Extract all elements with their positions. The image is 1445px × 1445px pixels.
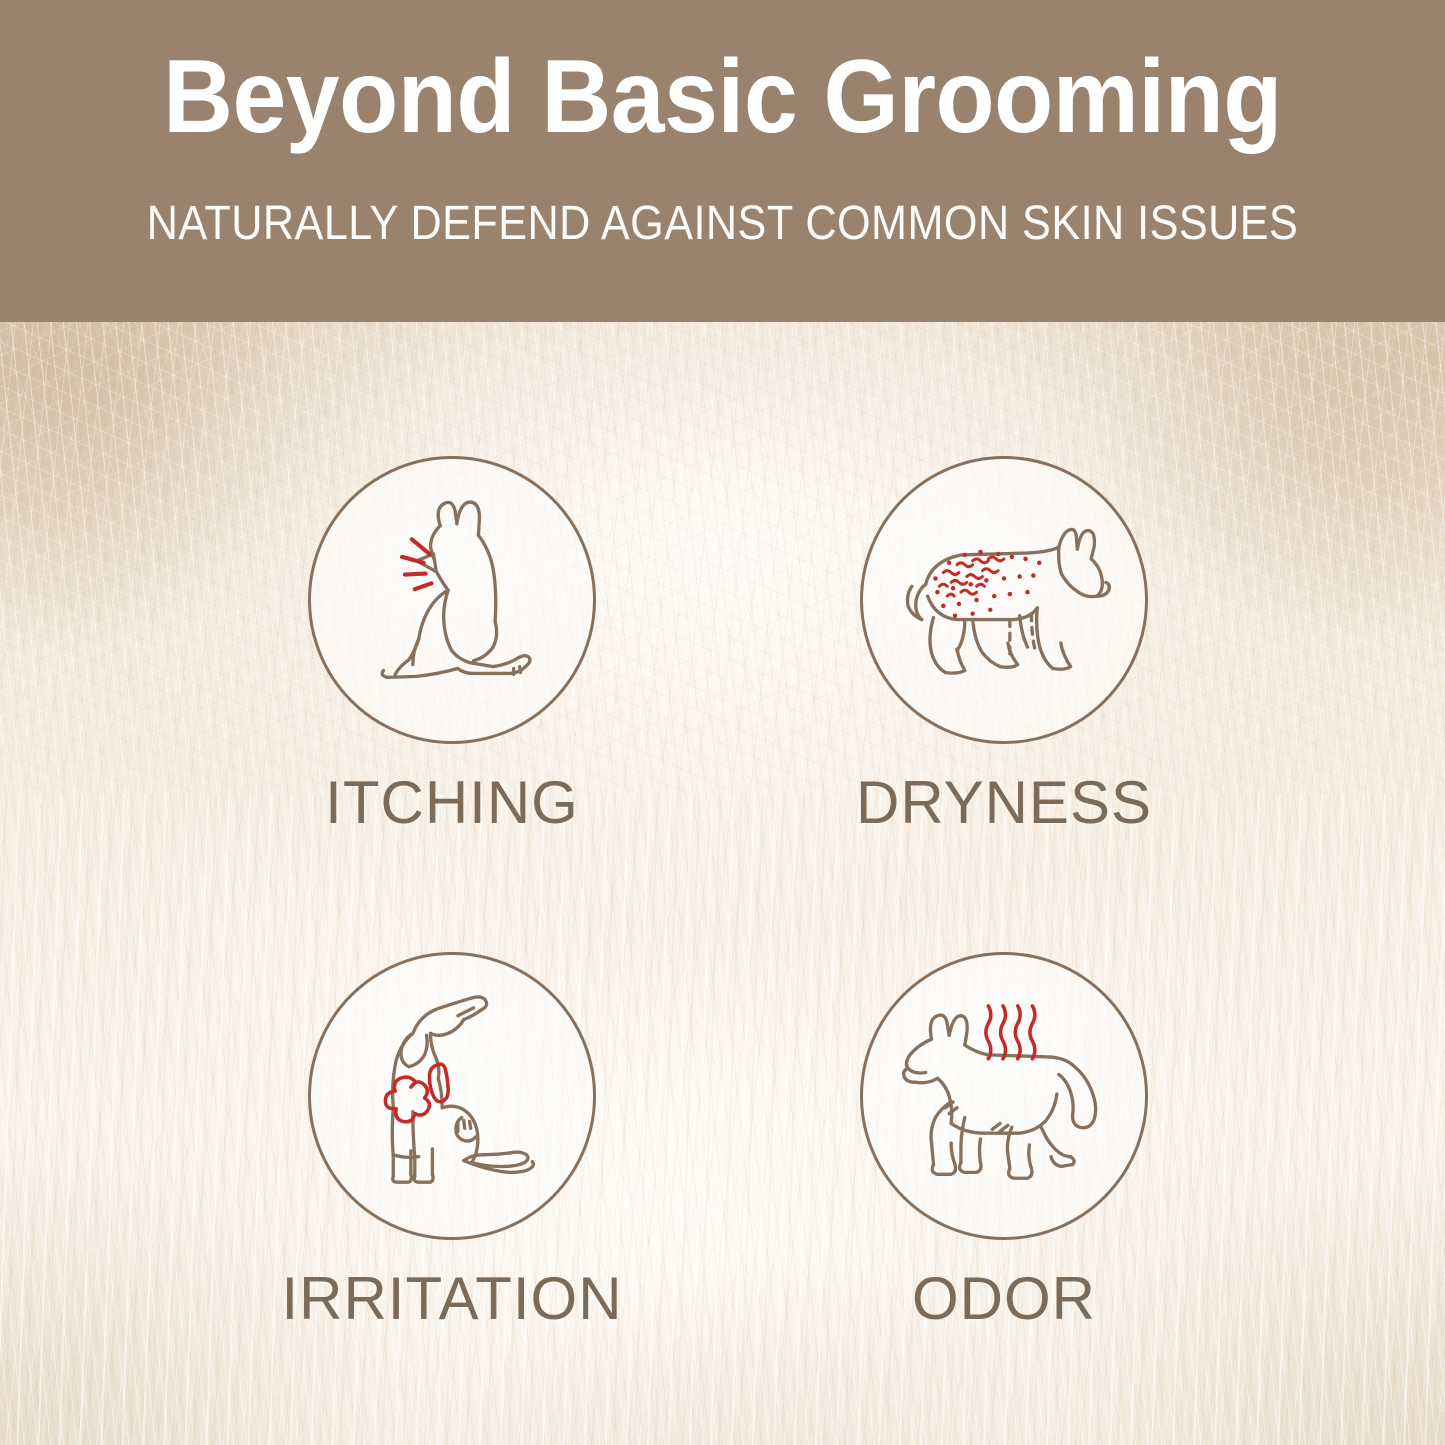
feature-item-itching[interactable]: ITCHING (237, 456, 667, 837)
feature-item-dryness[interactable]: DRYNESS (789, 456, 1219, 837)
dog-irritated-skin-icon (308, 952, 596, 1240)
page-title: Beyond Basic Grooming (51, 44, 1395, 150)
dog-scratching-icon (308, 456, 596, 744)
feature-label: ODOR (789, 1264, 1219, 1333)
feature-icon-grid: ITCHING (0, 322, 1445, 1445)
feature-label: ITCHING (237, 768, 667, 837)
poster: Beyond Basic Grooming NATURALLY DEFEND A… (0, 0, 1445, 1445)
feature-item-odor[interactable]: ODOR (789, 952, 1219, 1333)
dog-dry-flakes-icon (860, 456, 1148, 744)
feature-item-irritation[interactable]: IRRITATION (237, 952, 667, 1333)
feature-label: DRYNESS (789, 768, 1219, 837)
dog-odor-icon (860, 952, 1148, 1240)
page-subtitle: NATURALLY DEFEND AGAINST COMMON SKIN ISS… (72, 196, 1373, 251)
header-band: Beyond Basic Grooming NATURALLY DEFEND A… (0, 0, 1445, 322)
feature-label: IRRITATION (237, 1264, 667, 1333)
